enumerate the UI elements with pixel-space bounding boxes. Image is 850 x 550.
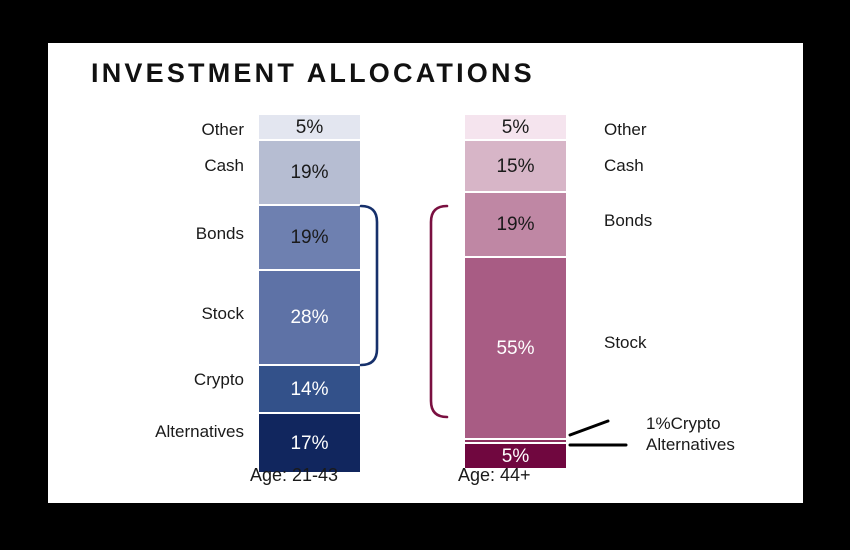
right-axis-label: Age: 44+ [458,465,531,486]
callout-crypto: 1%Crypto [646,414,721,434]
right-stacked-bar: 5% 15% 19% 55% 1% 5% [465,115,566,468]
callout-alternatives: Alternatives [646,435,735,455]
right-category-other: Other [604,120,647,140]
right-segment-bonds[interactable]: 19% [465,193,566,258]
slide-card: INVESTMENT ALLOCATIONS 5% 19% 19% 28% 14… [48,43,803,503]
right-segment-stock-value: 55% [496,339,534,358]
right-segment-other-value: 5% [502,118,529,137]
right-category-stock: Stock [604,333,647,353]
right-category-bonds: Bonds [604,211,652,231]
right-chart: 5% 15% 19% 55% 1% 5% Other Cash Bonds St… [48,43,803,503]
right-segment-bonds-value: 19% [496,215,534,234]
right-segment-stock[interactable]: 55% [465,258,566,440]
right-segment-cash-value: 15% [496,157,534,176]
right-segment-other[interactable]: 5% [465,115,566,141]
right-category-cash: Cash [604,156,644,176]
right-segment-cash[interactable]: 15% [465,141,566,193]
right-segment-alternatives-value: 5% [502,447,529,466]
